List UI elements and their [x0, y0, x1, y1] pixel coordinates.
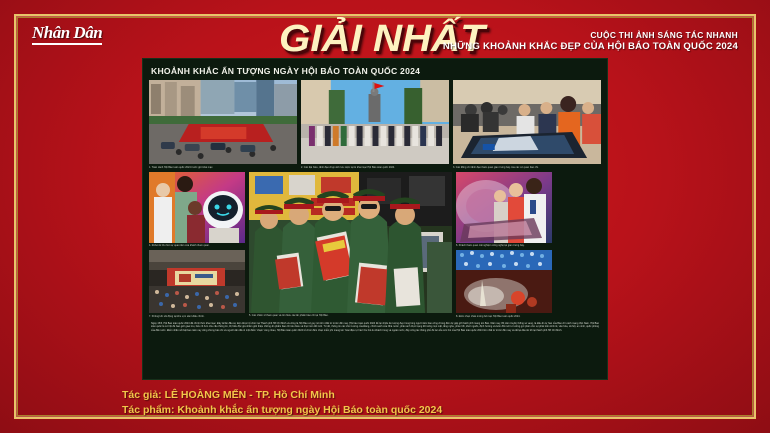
robot-booth-icon [149, 172, 245, 243]
photo-caption: 2. Các đại biểu, lãnh đạo chụp ảnh lưu n… [301, 166, 449, 169]
contest-line-1: CUỘC THI ẢNH SÁNG TÁC NHANH [443, 30, 738, 41]
nhan-dan-logo: Nhân Dân [32, 24, 102, 45]
collage-cell-5[interactable]: 5. Các chiến sĩ tham quan và tìm hiểu cá… [249, 172, 452, 318]
photo-8[interactable] [456, 250, 552, 313]
collage-cell-3[interactable]: 3. Các đồng chí lãnh đạo tham quan gian … [453, 80, 601, 169]
group-photo-icon [301, 80, 449, 164]
collage-title: KHOẢNH KHẮC ẤN TƯỢNG NGÀY HỘI BÁO TOÀN Q… [151, 66, 601, 76]
collage-row-top: 1. Toàn cảnh Hội Báo toàn quốc 2024 trướ… [149, 80, 601, 169]
poster-footer: Tác giả: LÊ HOÀNG MẾN - TP. Hồ Chí Minh … [122, 388, 742, 418]
soldiers-newspapers-icon [249, 172, 452, 313]
author-line: Tác giả: LÊ HOÀNG MẾN - TP. Hồ Chí Minh [122, 388, 742, 403]
photo-6[interactable] [456, 172, 552, 243]
collage-left-column: 4. Robot AI thu hút sự quan tâm của khác… [149, 172, 245, 318]
collage-cell-6[interactable]: 6. Khách tham quan trải nghiệm công nghệ… [456, 172, 552, 248]
photo-3[interactable] [453, 80, 601, 164]
poster-root: Nhân Dân GIẢI NHẤT CUỘC THI ẢNH SÁNG TÁC… [0, 0, 770, 433]
photo-caption: 4. Robot AI thu hút sự quan tâm của khác… [149, 244, 245, 247]
photo-5[interactable] [249, 172, 452, 313]
collage-cell-7[interactable]: 7. Không khí sôi động tại khu vực sân kh… [149, 250, 245, 318]
collage-right-column: 6. Khách tham quan trải nghiệm công nghệ… [456, 172, 552, 318]
work-title-line: Tác phẩm: Khoảnh khắc ấn tượng ngày Hội … [122, 403, 742, 418]
photo-caption: 7. Không khí sôi động tại khu vực sân kh… [149, 315, 245, 318]
photo-4[interactable] [149, 172, 245, 243]
interactive-display-icon [456, 172, 552, 243]
photo-caption: 1. Toàn cảnh Hội Báo toàn quốc 2024 trướ… [149, 166, 297, 169]
contest-line-2: NHỮNG KHOẢNH KHẮC ĐẸP CỦA HỘI BÁO TOÀN Q… [443, 41, 738, 54]
photo-caption: 3. Các đồng chí lãnh đạo tham quan gian … [453, 166, 601, 169]
photo-caption: 8. Đêm nhạc chào mừng bế mạc Hội Báo toà… [456, 315, 552, 318]
collage-cell-1[interactable]: 1. Toàn cảnh Hội Báo toàn quốc 2024 trướ… [149, 80, 297, 169]
photo-7[interactable] [149, 250, 245, 313]
photo-1[interactable] [149, 80, 297, 164]
photo-caption: 6. Khách tham quan trải nghiệm công nghệ… [456, 244, 552, 247]
photo-caption: 5. Các chiến sĩ tham quan và tìm hiểu cá… [249, 314, 452, 317]
main-stage-crowd-icon [149, 250, 245, 313]
aerial-street-photo-icon [149, 80, 297, 164]
concert-crowd-icon [456, 250, 552, 313]
collage-cell-4[interactable]: 4. Robot AI thu hút sự quan tâm của khác… [149, 172, 245, 248]
photo-2[interactable] [301, 80, 449, 164]
collage-cell-2[interactable]: 2. Các đại biểu, lãnh đạo chụp ảnh lưu n… [301, 80, 449, 169]
collage-panel: KHOẢNH KHẮC ẤN TƯỢNG NGÀY HỘI BÁO TOÀN Q… [142, 58, 608, 380]
collage-cell-8[interactable]: 8. Đêm nhạc chào mừng bế mạc Hội Báo toà… [456, 250, 552, 318]
officials-touchscreen-icon [453, 80, 601, 164]
contest-subtitle: CUỘC THI ẢNH SÁNG TÁC NHANH NHỮNG KHOẢNH… [443, 30, 738, 54]
poster-header: Nhân Dân GIẢI NHẤT CUỘC THI ẢNH SÁNG TÁC… [14, 14, 756, 62]
collage-row-main: 4. Robot AI thu hút sự quan tâm của khác… [149, 172, 601, 318]
collage-body-text: Ngày 15/3, Hội Báo toàn quốc 2024 đã chí… [151, 322, 599, 333]
